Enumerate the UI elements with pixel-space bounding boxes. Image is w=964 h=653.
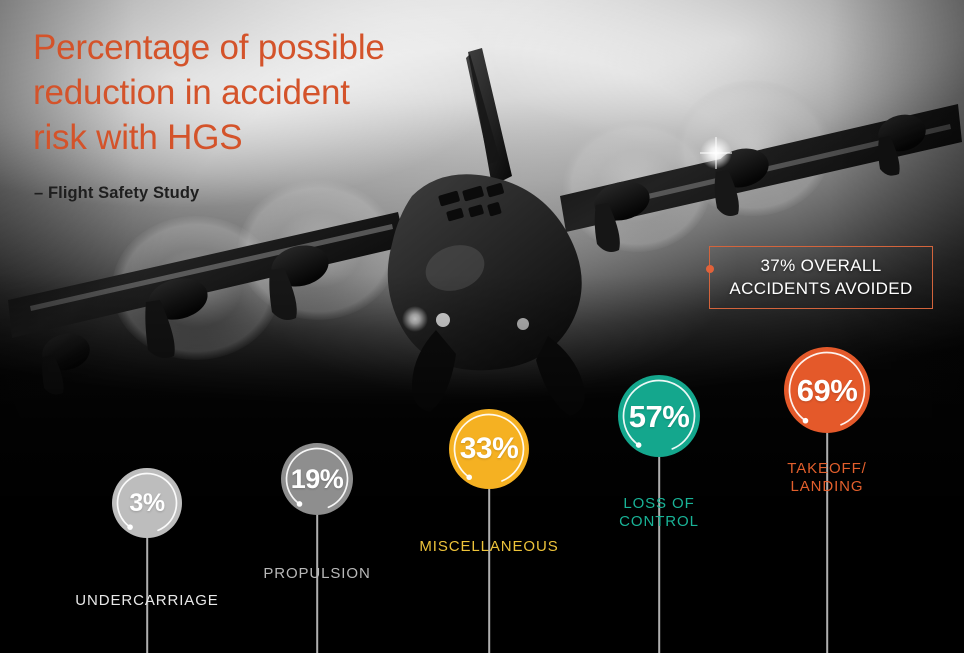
arc-end-dot-loss-of-control [636, 442, 642, 448]
connector-line-loss-of-control [658, 453, 660, 653]
category-label-takeoff-landing: TAKEOFF/ LANDING [787, 460, 866, 495]
marker-takeoff-landing: 69% [784, 347, 870, 433]
callout-line-1: 37% OVERALL [760, 256, 881, 276]
bubble-takeoff-landing: 69% [784, 347, 870, 433]
page-title: Percentage of possible reduction in acci… [33, 25, 473, 160]
bubble-miscellaneous: 33% [449, 409, 529, 489]
category-label-propulsion: PROPULSION [263, 565, 370, 583]
category-label-miscellaneous: MISCELLANEOUS [419, 538, 558, 556]
arc-end-dot-miscellaneous [466, 474, 472, 480]
infographic-canvas: Percentage of possible reduction in acci… [0, 0, 964, 653]
value-label-takeoff-landing: 69% [797, 375, 858, 406]
arc-end-dot-propulsion [297, 501, 303, 507]
value-label-miscellaneous: 33% [460, 434, 519, 464]
marker-miscellaneous: 33% [449, 409, 529, 489]
marker-propulsion: 19% [281, 443, 353, 515]
value-label-loss-of-control: 57% [629, 401, 690, 432]
callout-line-2: ACCIDENTS AVOIDED [729, 279, 912, 299]
value-label-undercarriage: 3% [129, 491, 164, 516]
value-label-propulsion: 19% [291, 466, 344, 493]
page-subtitle: – Flight Safety Study [34, 184, 199, 203]
marker-loss-of-control: 57% [618, 375, 700, 457]
arc-end-dot-undercarriage [127, 524, 133, 530]
callout-dot-icon [706, 265, 714, 273]
overall-accidents-callout: 37% OVERALL ACCIDENTS AVOIDED [709, 246, 933, 309]
bubble-undercarriage: 3% [112, 468, 182, 538]
marker-undercarriage: 3% [112, 468, 182, 538]
connector-line-miscellaneous [488, 485, 490, 653]
arc-end-dot-takeoff-landing [803, 418, 809, 424]
category-label-undercarriage: UNDERCARRIAGE [75, 592, 218, 610]
bubble-propulsion: 19% [281, 443, 353, 515]
category-label-loss-of-control: LOSS OF CONTROL [619, 495, 699, 530]
bubble-loss-of-control: 57% [618, 375, 700, 457]
